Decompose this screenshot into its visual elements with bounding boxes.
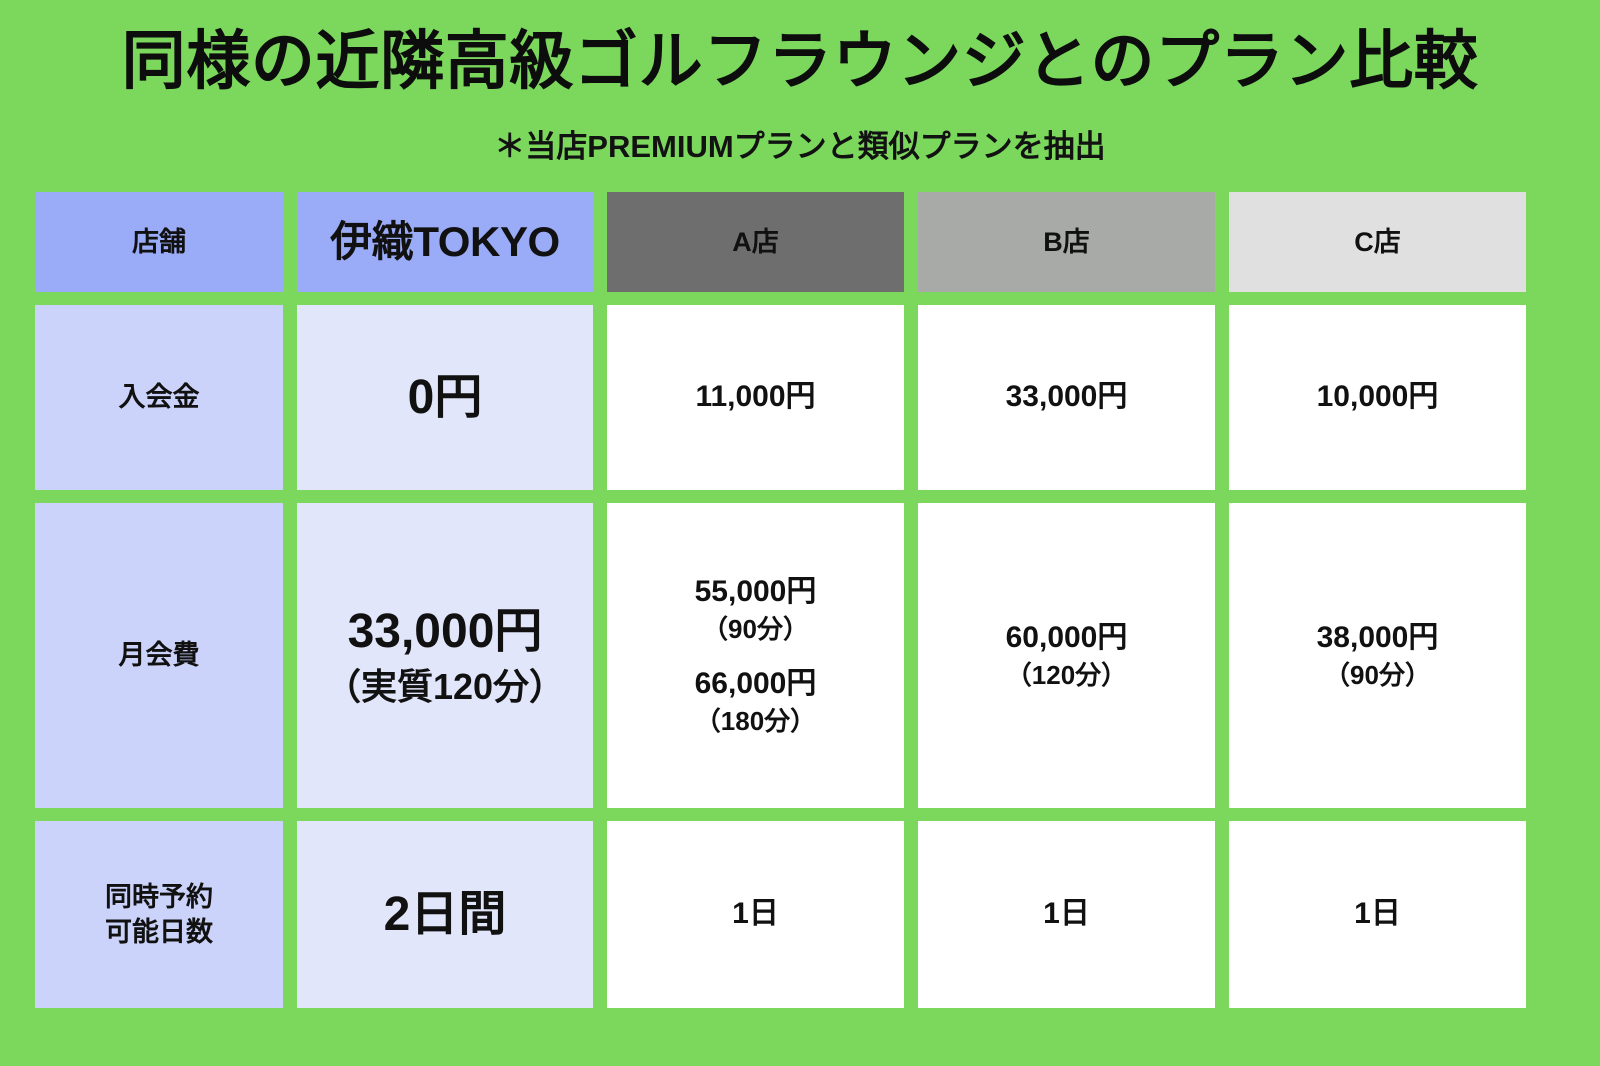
row-label-joining-fee: 入会金 <box>35 305 283 490</box>
cell-booking-days-a: 1日 <box>607 821 904 1008</box>
table-header-row: 店舗 伊織TOKYO A店 B店 C店 <box>35 192 1531 292</box>
header-label-store-b: B店 <box>1043 225 1090 260</box>
header-label-store: 店舗 <box>132 225 186 260</box>
header-cell-own-store: 伊織TOKYO <box>297 192 593 292</box>
header-label-own-store: 伊織TOKYO <box>330 215 560 269</box>
header-cell-store: 店舗 <box>35 192 283 292</box>
header-cell-store-b: B店 <box>918 192 1215 292</box>
cell-joining-fee-b: 33,000円 <box>918 305 1215 490</box>
row-label-simultaneous-booking-days: 同時予約 可能日数 <box>35 821 283 1008</box>
cell-value-sub-2: （180分） <box>695 705 816 738</box>
page-title: 同様の近隣高級ゴルフラウンジとのプラン比較 <box>0 28 1600 95</box>
cell-value-sub: （実質120分） <box>325 664 565 710</box>
header-cell-store-a: A店 <box>607 192 904 292</box>
header-cell-store-c: C店 <box>1229 192 1526 292</box>
row-label-monthly-fee: 月会費 <box>35 503 283 808</box>
header-label-store-c: C店 <box>1354 225 1401 260</box>
cell-booking-days-c: 1日 <box>1229 821 1526 1008</box>
cell-value-main: 0円 <box>408 367 483 428</box>
cell-booking-days-b: 1日 <box>918 821 1215 1008</box>
cell-value-main: 11,000円 <box>695 378 815 416</box>
row-label-text: 入会金 <box>119 380 200 415</box>
cell-joining-fee-own: 0円 <box>297 305 593 490</box>
table-row: 入会金 0円 11,000円 33,000円 10,000円 <box>35 305 1531 490</box>
cell-value-sub: （90分） <box>1324 659 1431 692</box>
cell-value-main-2: 66,000円 <box>695 665 817 703</box>
row-label-text: 同時予約 可能日数 <box>105 880 213 949</box>
header-block: 同様の近隣高級ゴルフラウンジとのプラン比較 ＊当店PREMIUMプランと類似プラ… <box>0 0 1600 180</box>
cell-booking-days-own: 2日間 <box>297 821 593 1008</box>
cell-value-main: 10,000円 <box>1317 378 1439 416</box>
cell-value-main: 1日 <box>732 895 779 933</box>
cell-value-main: 1日 <box>1354 895 1401 933</box>
header-label-store-a: A店 <box>732 225 779 260</box>
cell-value-main: 38,000円 <box>1317 619 1439 657</box>
cell-value-sub: （90分） <box>702 613 809 646</box>
cell-value-main: 1日 <box>1043 895 1090 933</box>
cell-value-sub: （120分） <box>1006 659 1127 692</box>
price-option-2: 66,000円 （180分） <box>695 665 817 739</box>
row-label-text: 月会費 <box>119 638 200 673</box>
cell-joining-fee-c: 10,000円 <box>1229 305 1526 490</box>
cell-value-main: 2日間 <box>384 884 507 945</box>
cell-value-main: 55,000円 <box>695 573 817 611</box>
comparison-table: 店舗 伊織TOKYO A店 B店 C店 入会金 0円 11,000円 33,00… <box>35 192 1531 1008</box>
table-row: 月会費 33,000円 （実質120分） 55,000円 （90分） 66,00… <box>35 503 1531 808</box>
page-subtitle: ＊当店PREMIUMプランと類似プランを抽出 <box>0 128 1600 165</box>
cell-monthly-fee-c: 38,000円 （90分） <box>1229 503 1526 808</box>
cell-value-main: 60,000円 <box>1006 619 1128 657</box>
table-row: 同時予約 可能日数 2日間 1日 1日 1日 <box>35 821 1531 1008</box>
cell-value-main: 33,000円 <box>1006 378 1128 416</box>
price-option-1: 55,000円 （90分） <box>695 573 817 647</box>
cell-joining-fee-a: 11,000円 <box>607 305 904 490</box>
cell-monthly-fee-own: 33,000円 （実質120分） <box>297 503 593 808</box>
cell-value-main: 33,000円 <box>348 601 543 662</box>
cell-monthly-fee-b: 60,000円 （120分） <box>918 503 1215 808</box>
cell-monthly-fee-a: 55,000円 （90分） 66,000円 （180分） <box>607 503 904 808</box>
